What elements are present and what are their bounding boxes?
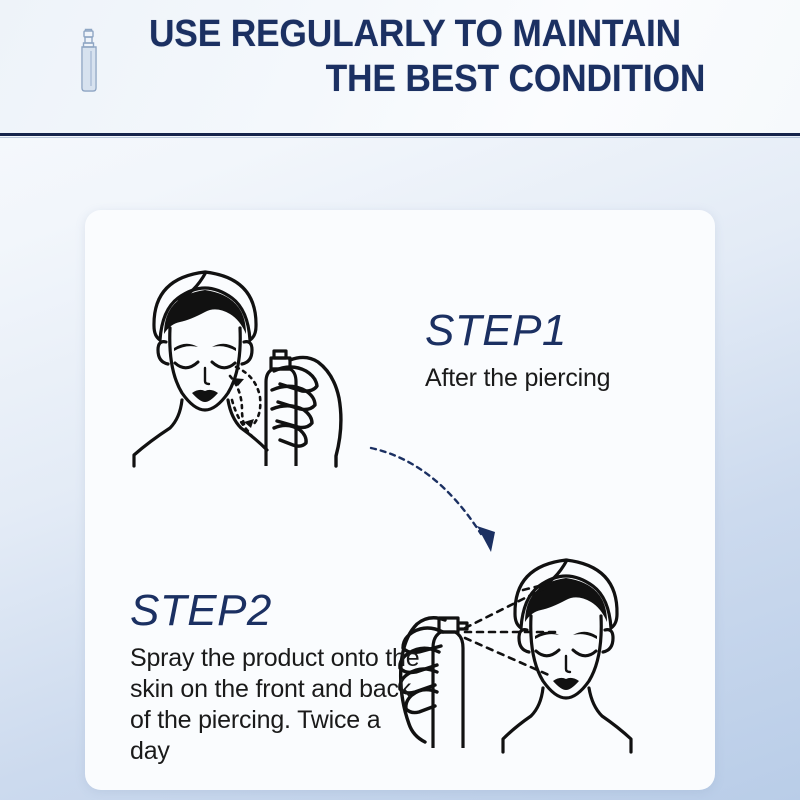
eyebrows <box>174 344 236 351</box>
eyebrows <box>535 632 597 639</box>
step-2-description: Spray the product onto the skin on the f… <box>130 643 420 767</box>
lips <box>553 678 579 690</box>
spray-bottle-shape <box>433 618 467 748</box>
lips <box>192 390 218 402</box>
hand-shape <box>272 357 341 466</box>
page-title-line-2: THE BEST CONDITION <box>117 57 712 102</box>
page-title: USE REGULARLY TO MAINTAIN THE BEST CONDI… <box>117 12 712 102</box>
steps-card: STEP1 After the piercing STEP2 Spray the… <box>85 210 715 790</box>
page-title-line-1: USE REGULARLY TO MAINTAIN <box>117 12 712 57</box>
nose <box>205 368 209 384</box>
step-2-label: STEP2 <box>130 585 420 637</box>
header-banner: USE REGULARLY TO MAINTAIN THE BEST CONDI… <box>0 0 800 133</box>
spray-bottle-icon <box>74 28 108 94</box>
hair-shape <box>525 578 607 622</box>
nose <box>566 656 570 672</box>
woman-spraying-front-of-face-illustration <box>395 520 665 760</box>
step-1-label: STEP1 <box>425 305 695 357</box>
step-2-text-block: STEP2 Spray the product onto the skin on… <box>130 585 420 767</box>
header-divider <box>0 133 800 136</box>
poster-page: USE REGULARLY TO MAINTAIN THE BEST CONDI… <box>0 0 800 800</box>
step-1-text-block: STEP1 After the piercing <box>425 305 695 394</box>
header-divider-secondary <box>0 137 800 138</box>
step-1-description: After the piercing <box>425 363 695 394</box>
hair-shape <box>164 290 246 334</box>
woman-spraying-side-of-face-illustration <box>120 250 365 475</box>
